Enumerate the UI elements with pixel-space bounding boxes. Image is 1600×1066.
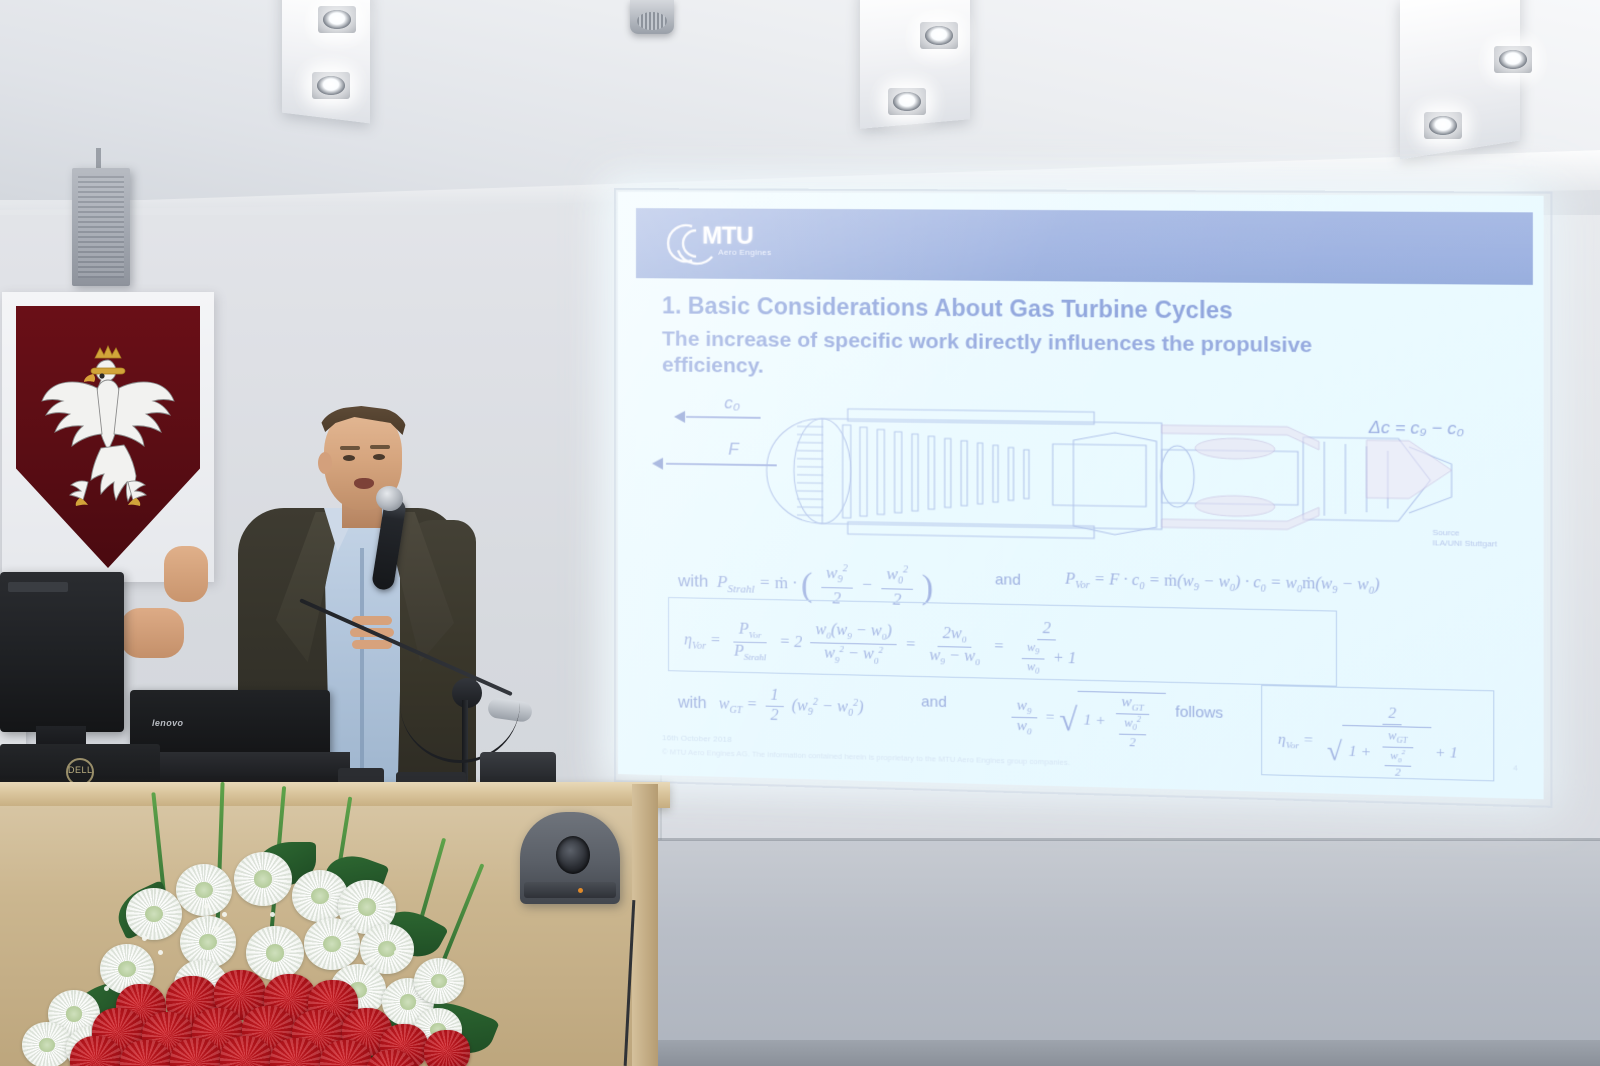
speaker-gesturing-hand bbox=[120, 608, 184, 658]
ceiling-downlight-icon bbox=[312, 72, 350, 99]
white-gerbera bbox=[22, 1022, 72, 1066]
desktop-monitor bbox=[0, 572, 124, 732]
white-gerbera bbox=[414, 958, 464, 1004]
projection-screen-frame bbox=[614, 188, 1552, 808]
ceiling-downlight-icon bbox=[1494, 46, 1532, 73]
ceiling-downlight-icon bbox=[920, 22, 958, 49]
red-carnation bbox=[424, 1030, 470, 1066]
speaker-eyebrow bbox=[370, 445, 390, 449]
crown-icon bbox=[95, 346, 121, 358]
white-gerbera bbox=[126, 888, 182, 940]
wall-loudspeaker bbox=[72, 168, 130, 286]
speaker-eye bbox=[343, 455, 355, 461]
shirt-placket bbox=[360, 548, 364, 798]
conference-photo-scene: MTU Aero Engines 1. Basic Considerations… bbox=[0, 0, 1600, 1066]
speaker-ear bbox=[318, 452, 332, 474]
desk-device[interactable] bbox=[480, 752, 556, 786]
smoke-detector-icon bbox=[630, 0, 674, 34]
podium-surface bbox=[0, 782, 670, 808]
white-gerbera bbox=[246, 926, 304, 980]
speaker-eye bbox=[373, 454, 385, 460]
coat-of-arms-plaque bbox=[2, 292, 214, 582]
white-gerbera bbox=[234, 852, 292, 906]
podium-right-edge bbox=[632, 784, 658, 1066]
speaker-eyebrow bbox=[340, 446, 360, 450]
ceiling-downlight-icon bbox=[1424, 112, 1462, 139]
speaker-hand-holding-mic bbox=[164, 546, 208, 602]
ceiling-downlight-icon bbox=[318, 6, 356, 33]
speaker-finger bbox=[352, 640, 392, 649]
laptop-brand-label: lenovo bbox=[152, 718, 183, 728]
grass-blade bbox=[440, 863, 485, 966]
polish-eagle-icon bbox=[33, 336, 183, 521]
white-gerbera bbox=[304, 918, 360, 970]
flower-arrangement bbox=[8, 808, 588, 1066]
speaker-mouth bbox=[354, 478, 374, 489]
ceiling-downlight-icon bbox=[888, 88, 926, 115]
